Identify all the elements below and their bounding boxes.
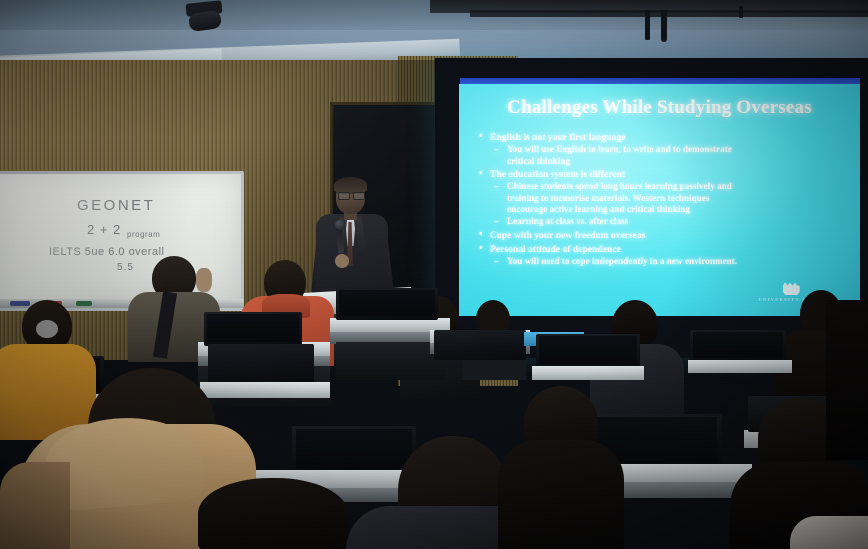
audience-head-front-center: [198, 478, 348, 549]
university-crest-icon: [783, 282, 800, 295]
audience-hand-back-left: [196, 268, 212, 292]
speaker-glasses-icon: [353, 192, 365, 200]
audience-torso-longhair-mid: [498, 440, 624, 549]
monitor-screen-row2-a: [207, 314, 299, 342]
monitor-mid-b: [208, 344, 314, 384]
slide-bullet-2: The education system is different: [477, 168, 852, 181]
monitor-screen-right-b: [539, 336, 637, 364]
slide-subbullet-1-1-cont: critical thinking: [477, 156, 852, 168]
speaker-glasses-icon: [338, 192, 350, 200]
audience-shoulder-tan-hoodie: [0, 462, 70, 549]
monitor-right-a: [434, 330, 526, 360]
hanging-rod-icon: [645, 10, 650, 40]
desk-surface-mid-b: [200, 382, 330, 398]
desk-surface-right-c: [688, 360, 792, 373]
marker-icon: [10, 301, 30, 306]
hanging-rod-icon: [739, 6, 743, 18]
whiteboard-glare: [0, 171, 165, 311]
ceiling-track-rail-secondary: [470, 10, 868, 17]
slide-body: English is not your first language You w…: [477, 130, 852, 267]
monitor-screen-front-a: [296, 429, 412, 469]
slide-subbullet-4-1: You will need to cope independently in a…: [477, 256, 852, 268]
lecture-hall-photo: GEONET 2 + 2 program IELTS 5ue 6.0 overa…: [0, 0, 868, 549]
slide-subbullet-2-2: Learning at class vs. after class: [477, 216, 852, 228]
desk-surface-right-b: [532, 366, 644, 380]
audience-silhouette-right-edge: [826, 300, 868, 460]
slide-title: Challenges While Studying Overseas: [459, 97, 860, 119]
slide-subbullet-2-1: Chinese students spend long hours learni…: [477, 181, 852, 193]
hanging-rod-icon: [661, 10, 667, 42]
audience-collar-white: [790, 516, 868, 549]
presentation-slide: Challenges While Studying Overseas Engli…: [459, 84, 860, 316]
slide-bullet-4: Personal attitude of dependence: [477, 243, 852, 256]
slide-bullet-3: Cope with your new freedom overseas: [477, 229, 852, 242]
slide-subbullet-2-1-cont-b: encourage active learning and critical t…: [477, 204, 852, 216]
audience-headphone-icon: [36, 320, 58, 338]
slide-subbullet-2-1-cont-a: training to memorise materials. Western …: [477, 193, 852, 205]
slide-bullet-1: English is not your first language: [477, 131, 852, 144]
speaker-hand-holding-mic: [335, 254, 349, 268]
marker-icon: [76, 301, 92, 306]
microphone-head-icon: [335, 220, 345, 230]
monitor-screen-right-c: [693, 332, 783, 358]
monitor-screen-row2-b: [339, 290, 435, 316]
slide-subbullet-1-1: You will use English to learn, to write …: [477, 144, 852, 156]
